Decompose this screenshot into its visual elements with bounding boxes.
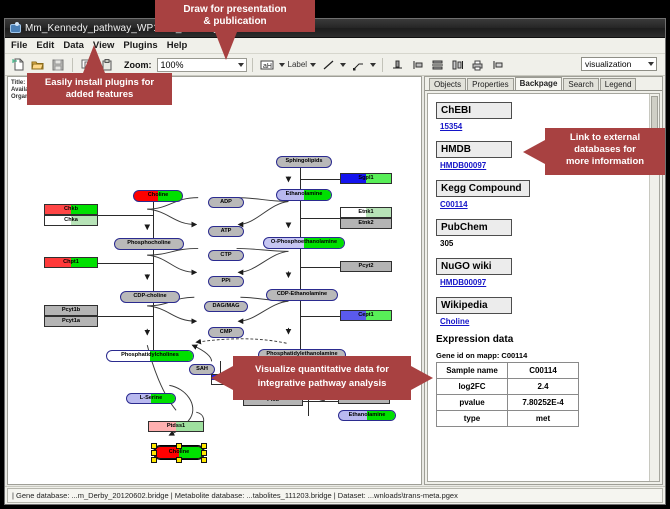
callout-visualize-tail-right xyxy=(411,366,433,390)
callout-draw-tail xyxy=(215,32,237,60)
status-text: | Gene database: ...m_Derby_20120602.bri… xyxy=(7,488,663,503)
chevron-down-icon xyxy=(238,63,244,67)
resize-handle[interactable] xyxy=(201,457,207,463)
edge-chk-to-line xyxy=(98,215,153,216)
status-bar: | Gene database: ...m_Derby_20120602.bri… xyxy=(5,486,665,504)
table-row: pvalue 7.80252E-4 xyxy=(437,395,579,411)
tab-search[interactable]: Search xyxy=(563,78,598,90)
node-label: Chpt1 xyxy=(63,260,79,266)
metabolite-node[interactable]: CTP xyxy=(208,250,244,261)
callout-draw-line2: & publication xyxy=(161,16,309,28)
node-label: Cept1 xyxy=(358,313,374,319)
table-cell-key: pvalue xyxy=(437,395,508,411)
metabolite-node[interactable]: CMP xyxy=(208,327,244,338)
db-entry-chebi: ChEBI 15354 xyxy=(436,100,651,131)
node-label: DAG/MAG xyxy=(212,304,239,310)
node-label: Sphingolipids xyxy=(286,159,323,165)
chevron-down-icon[interactable] xyxy=(310,63,316,67)
same-height-icon[interactable] xyxy=(448,56,466,74)
gene-node[interactable]: Chpt1 xyxy=(44,257,98,268)
callout-visualize-line1: Visualize quantitative data for xyxy=(239,363,405,377)
callout-links-tail xyxy=(523,140,545,164)
edge-cept1-to-line xyxy=(300,316,340,317)
resize-handle[interactable] xyxy=(176,457,182,463)
toolbar-separator xyxy=(72,58,73,72)
chevron-down-icon[interactable] xyxy=(279,63,285,67)
db-name: ChEBI xyxy=(436,102,512,119)
db-name: PubChem xyxy=(436,219,512,236)
node-label: Sgpl1 xyxy=(358,176,373,182)
node-label: PPi xyxy=(221,279,230,285)
print-icon[interactable] xyxy=(468,56,486,74)
table-cell-value: met xyxy=(508,411,579,427)
callout-plugins-tail xyxy=(83,45,105,73)
metabolite-node[interactable]: DAG/MAG xyxy=(204,301,248,312)
node-label: Chkb xyxy=(64,207,78,213)
db-entry-nugo: NuGO wiki HMDB00097 xyxy=(436,256,651,287)
node-label: O-Phosphoethanolamine xyxy=(271,240,337,246)
menu-plugins[interactable]: Plugins xyxy=(123,40,157,51)
node-label: Choline xyxy=(169,450,190,456)
edge-cdpcholine-ptdcholine xyxy=(153,303,154,350)
node-label: L-Serine xyxy=(140,396,162,402)
align-top-icon[interactable] xyxy=(388,56,406,74)
new-file-icon[interactable] xyxy=(9,56,27,74)
metabolite-node[interactable]: Ethanolamine xyxy=(276,189,332,201)
metabolite-node[interactable]: Sphingolipids xyxy=(276,156,332,168)
resize-handle[interactable] xyxy=(201,443,207,449)
metabolite-node[interactable]: Ethanolamine xyxy=(338,410,396,421)
edge-pe-cdpe xyxy=(300,249,301,289)
db-name: Kegg Compound xyxy=(436,180,530,197)
tab-objects[interactable]: Objects xyxy=(429,78,466,90)
menu-help[interactable]: Help xyxy=(167,40,188,51)
metabolite-node[interactable]: CDP-Ethanolamine xyxy=(266,289,338,301)
line-tool-icon[interactable] xyxy=(319,56,337,74)
table-cell-key: type xyxy=(437,411,508,427)
node-label: Pcyt2 xyxy=(359,264,374,270)
tab-backpage[interactable]: Backpage xyxy=(515,77,563,90)
db-entry-pubchem: PubChem 305 xyxy=(436,217,651,248)
node-label: Ptdss1 xyxy=(167,424,185,430)
table-cell-key: Sample name xyxy=(437,363,508,379)
edge-ethanolamine-pe xyxy=(300,201,301,237)
node-label: Pcyt1a xyxy=(62,319,80,325)
edge-sgpl1-to-line xyxy=(300,179,340,180)
pathvisio-icon xyxy=(9,22,21,34)
table-row: type met xyxy=(437,411,579,427)
menu-edit[interactable]: Edit xyxy=(36,40,54,51)
node-label: CMP xyxy=(220,330,232,336)
callout-plugins-line1: Easily install plugins for xyxy=(33,77,166,89)
metabolite-node[interactable]: ATP xyxy=(208,226,244,237)
node-label: Ethanolamine xyxy=(286,192,323,198)
menu-file[interactable]: File xyxy=(11,40,27,51)
callout-visualize: Visualize quantitative data for integrat… xyxy=(233,356,411,400)
callout-draw: Draw for presentation & publication xyxy=(155,0,315,32)
gene-node[interactable]: Sgpl1 xyxy=(340,173,392,184)
db-value: 305 xyxy=(440,239,651,248)
chevron-down-icon[interactable] xyxy=(370,63,376,67)
distribute-vertical-icon[interactable] xyxy=(428,56,446,74)
metabolite-node[interactable]: CDP-choline xyxy=(120,291,180,303)
side-panel-tabs: Objects Properties Backpage Search Legen… xyxy=(425,77,662,91)
order-icon[interactable] xyxy=(488,56,506,74)
edge-choline-phosphocholine xyxy=(153,202,154,238)
gene-node[interactable]: Chkb xyxy=(44,204,98,215)
toolbar-separator xyxy=(252,58,253,72)
gene-node[interactable]: Etnk1 xyxy=(340,207,392,218)
visualization-value: visualization xyxy=(585,59,631,69)
tab-legend[interactable]: Legend xyxy=(600,78,637,90)
callout-links-line2: databases for xyxy=(551,144,659,156)
resize-handle[interactable] xyxy=(151,457,157,463)
table-cell-value: C00114 xyxy=(508,363,579,379)
metabolite-node[interactable]: Phosphatidylcholines xyxy=(106,350,194,362)
db-link[interactable]: Choline xyxy=(440,317,651,326)
node-label: Phosphatidylcholines xyxy=(121,353,179,359)
metabolite-node[interactable]: Choline xyxy=(133,190,183,202)
db-name: HMDB xyxy=(436,141,512,158)
title-bar: Mm_Kennedy_pathway_WP1771_45176.gpml xyxy=(5,19,665,38)
table-cell-key: log2FC xyxy=(437,379,508,395)
metabolite-node[interactable]: PPi xyxy=(208,276,244,287)
resize-handle[interactable] xyxy=(151,450,157,456)
node-label: SAH xyxy=(196,367,208,373)
table-cell-value: 7.80252E-4 xyxy=(508,395,579,411)
metabolite-node[interactable]: L-Serine xyxy=(126,393,176,404)
pathway-canvas[interactable]: Title: Availa Organi xyxy=(7,76,422,485)
zoom-label: Zoom: xyxy=(124,60,152,70)
gene-node[interactable]: Chka xyxy=(44,215,98,226)
metabolite-node[interactable]: O-Phosphoethanolamine xyxy=(263,237,345,249)
resize-handle[interactable] xyxy=(201,450,207,456)
callout-links: Link to external databases for more info… xyxy=(545,128,665,175)
node-label: CDP-Ethanolamine xyxy=(277,292,327,298)
anchor-line-icon[interactable] xyxy=(349,56,367,74)
menu-data[interactable]: Data xyxy=(63,40,84,51)
screenshot-root: Mm_Kennedy_pathway_WP1771_45176.gpml Fil… xyxy=(0,0,670,509)
table-row: log2FC 2.4 xyxy=(437,379,579,395)
node-label: Etnk2 xyxy=(358,221,373,227)
node-label: ATP xyxy=(221,229,232,235)
db-link[interactable]: C00114 xyxy=(440,200,651,209)
expression-table: Sample name C00114 log2FC 2.4 pvalue 7.8… xyxy=(436,362,579,427)
edge-phosphocholine-cdpcholine xyxy=(153,250,154,291)
save-icon[interactable] xyxy=(49,56,67,74)
align-left-icon[interactable] xyxy=(408,56,426,74)
gene-node[interactable]: Pcyt1b xyxy=(44,305,98,316)
datanode-icon[interactable]: aH xyxy=(258,56,276,74)
metabolite-node[interactable]: ADP xyxy=(208,197,244,208)
gene-node[interactable]: Etnk2 xyxy=(340,218,392,229)
open-folder-icon[interactable] xyxy=(29,56,47,74)
callout-visualize-tail-left xyxy=(211,366,233,390)
metabolite-node[interactable]: Phosphocholine xyxy=(114,238,184,250)
tab-properties[interactable]: Properties xyxy=(467,78,513,90)
chevron-down-icon[interactable] xyxy=(340,63,346,67)
db-link[interactable]: HMDB00097 xyxy=(440,278,651,287)
expression-data-heading: Expression data xyxy=(436,334,651,345)
zoom-value: 100% xyxy=(161,60,184,70)
node-label: CDP-choline xyxy=(133,294,166,300)
node-label: Phosphocholine xyxy=(127,241,171,247)
table-cell-value: 2.4 xyxy=(508,379,579,395)
node-label: ADP xyxy=(220,200,232,206)
db-entry-wikipedia: Wikipedia Choline xyxy=(436,295,651,326)
svg-text:aH: aH xyxy=(263,63,272,70)
db-entry-kegg: Kegg Compound C00114 xyxy=(436,178,651,209)
node-label: Choline xyxy=(148,193,169,199)
edge-pcyt2-to-line xyxy=(300,267,340,268)
edge-etnk-to-line xyxy=(300,218,340,219)
table-row: Sample name C00114 xyxy=(437,363,579,379)
toolbar-separator xyxy=(382,58,383,72)
node-label: Etnk1 xyxy=(358,210,373,216)
db-name: NuGO wiki xyxy=(436,258,512,275)
callout-plugins-line2: added features xyxy=(33,89,166,101)
resize-handle[interactable] xyxy=(151,443,157,449)
callout-visualize-line2: integrative pathway analysis xyxy=(239,377,405,391)
callout-draw-line1: Draw for presentation xyxy=(161,4,309,16)
db-name: Wikipedia xyxy=(436,297,512,314)
edge-pcyt1-to-line xyxy=(98,316,153,317)
node-label: CTP xyxy=(220,253,231,259)
label-tool[interactable]: Label xyxy=(288,60,308,69)
gene-node[interactable]: Pcyt2 xyxy=(340,261,392,272)
callout-plugins: Easily install plugins for added feature… xyxy=(27,73,172,105)
callout-links-line1: Link to external xyxy=(551,132,659,144)
gene-node[interactable]: Pcyt1a xyxy=(44,316,98,327)
gene-node[interactable]: Ptdss1 xyxy=(148,421,204,432)
node-label: Chka xyxy=(64,218,78,224)
gene-id-line: Gene id on mapp: C00114 xyxy=(436,351,651,360)
visualization-combobox[interactable]: visualization xyxy=(581,57,657,71)
gene-node[interactable]: Cept1 xyxy=(340,310,392,321)
chevron-down-icon xyxy=(648,62,654,66)
node-label: Pcyt1b xyxy=(62,308,80,314)
edge-chpt1-to-line xyxy=(98,263,153,264)
callout-links-line3: more information xyxy=(551,156,659,168)
edge-cdpe-ptdetn xyxy=(300,301,301,349)
node-label: Ethanolamine xyxy=(349,413,386,419)
